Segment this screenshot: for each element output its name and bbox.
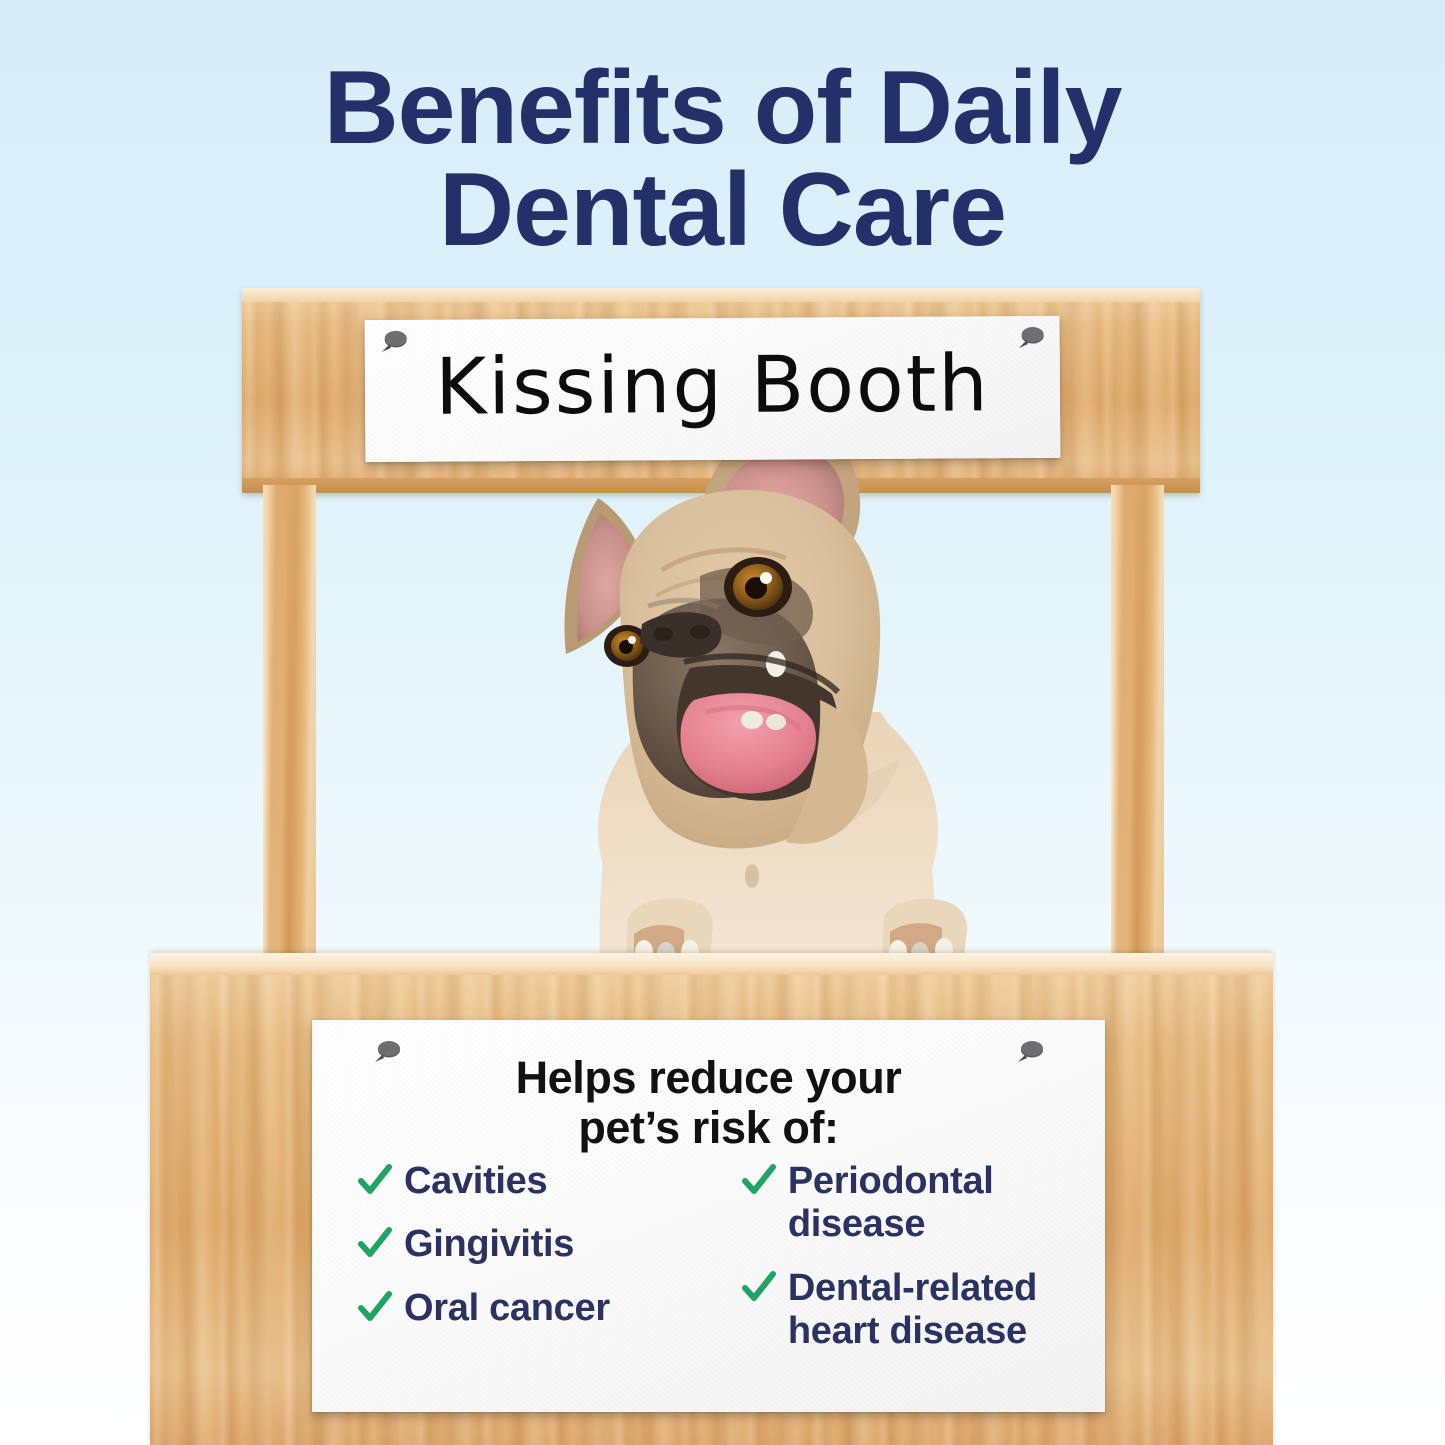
benefits-headline: Helps reduce your pet’s risk of:	[312, 1053, 1105, 1154]
booth-counter-top-bevel	[150, 953, 1273, 975]
dog-eye-right	[724, 557, 792, 617]
benefits-list: Cavities Gingivitis Oral cancer Peri	[358, 1160, 1078, 1373]
list-item: Cavities	[358, 1160, 712, 1203]
list-item: Gingivitis	[358, 1223, 712, 1266]
list-item: Dental-related heart disease	[742, 1267, 1078, 1354]
benefits-headline-line-1: Helps reduce your	[312, 1053, 1105, 1103]
list-item-label: Dental-related heart disease	[788, 1267, 1078, 1354]
check-icon	[742, 1162, 776, 1198]
benefits-column-left: Cavities Gingivitis Oral cancer	[358, 1160, 712, 1373]
benefits-sign: Helps reduce your pet’s risk of: Cavitie…	[312, 1020, 1105, 1412]
check-icon	[358, 1225, 392, 1261]
list-item-label: Oral cancer	[404, 1287, 610, 1330]
check-icon	[358, 1289, 392, 1325]
kissing-booth-sign: Kissing Booth	[365, 316, 1061, 462]
list-item: Oral cancer	[358, 1287, 712, 1330]
check-icon	[358, 1162, 392, 1198]
list-item-label: Gingivitis	[404, 1223, 574, 1266]
check-icon	[742, 1269, 776, 1305]
benefits-headline-line-2: pet’s risk of:	[312, 1103, 1105, 1153]
list-item-label: Periodontal disease	[788, 1160, 1078, 1247]
list-item-label: Cavities	[404, 1160, 547, 1203]
list-item: Periodontal disease	[742, 1160, 1078, 1247]
kissing-booth-sign-text: Kissing Booth	[365, 316, 1061, 462]
benefits-column-right: Periodontal disease Dental-related heart…	[724, 1160, 1078, 1373]
